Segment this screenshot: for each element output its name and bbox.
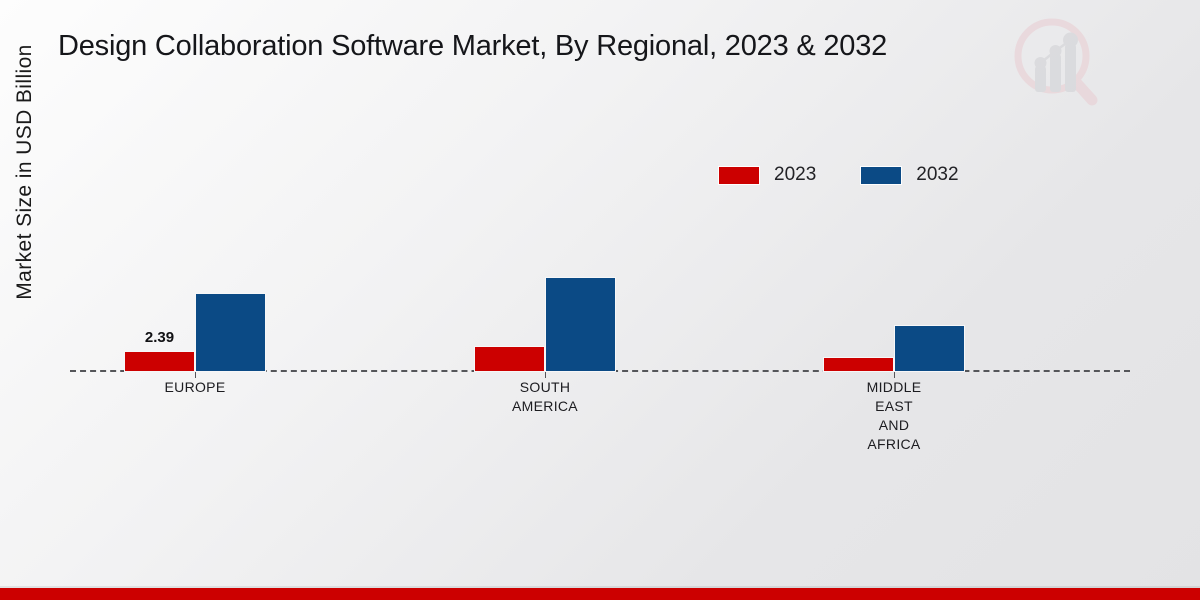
- plot-area: 2.39 EUROPE SOUTH AMERICA MIDDLE EAST AN: [70, 200, 1130, 372]
- footer-accent-bar: [0, 588, 1200, 600]
- bar-south-america-2032[interactable]: [545, 277, 616, 372]
- bar-europe-2032[interactable]: [195, 293, 266, 372]
- bar-south-america-2023[interactable]: [474, 346, 545, 372]
- chart-legend: 2023 2032: [718, 164, 959, 186]
- legend-label-2032: 2032: [916, 164, 958, 186]
- category-label-europe: EUROPE: [95, 378, 295, 397]
- bar-middle-east-and-africa-2032[interactable]: [894, 325, 965, 372]
- category-label-south-america: SOUTH AMERICA: [445, 378, 645, 416]
- bar-europe-2023[interactable]: 2.39: [124, 351, 195, 372]
- bar-value-europe-2023: 2.39: [145, 329, 174, 346]
- legend-item-2023[interactable]: 2023: [718, 164, 816, 186]
- chart-canvas: Design Collaboration Software Market, By…: [0, 0, 1200, 600]
- category-label-middle-east-and-africa: MIDDLE EAST AND AFRICA: [794, 378, 994, 454]
- bar-group-bars: [474, 200, 616, 372]
- y-axis-title: Market Size in USD Billion: [13, 7, 37, 337]
- bar-group-bars: [823, 200, 965, 372]
- bar-group-bars: 2.39: [124, 200, 266, 372]
- legend-label-2023: 2023: [774, 164, 816, 186]
- bar-group-south-america: SOUTH AMERICA: [474, 200, 616, 372]
- chart-title: Design Collaboration Software Market, By…: [58, 30, 1058, 63]
- legend-item-2032[interactable]: 2032: [860, 164, 958, 186]
- legend-swatch-2032: [860, 166, 902, 185]
- bar-group-middle-east-and-africa: MIDDLE EAST AND AFRICA: [823, 200, 965, 372]
- legend-swatch-2023: [718, 166, 760, 185]
- bar-middle-east-and-africa-2023[interactable]: [823, 357, 894, 372]
- bar-group-europe: 2.39 EUROPE: [124, 200, 266, 372]
